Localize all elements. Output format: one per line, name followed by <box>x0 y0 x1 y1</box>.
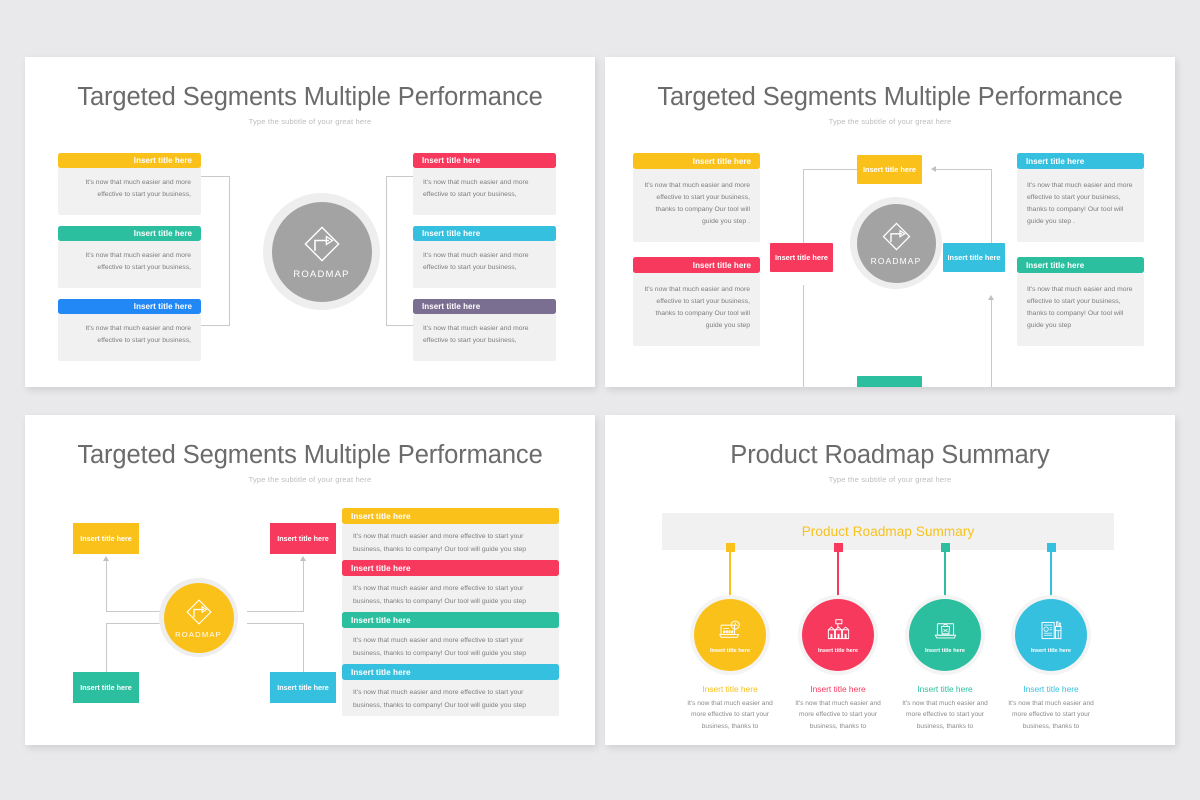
step-bubble[interactable]: Insert title here <box>802 599 874 671</box>
card-body: It's now that much easier and more effec… <box>413 314 556 361</box>
flow-node-right[interactable]: Insert title here <box>943 243 1005 272</box>
node-label: Insert title here <box>948 253 1001 262</box>
list-card-1[interactable]: Insert title here It's now that much eas… <box>342 508 559 560</box>
connector-line <box>106 611 161 612</box>
flow-node-left[interactable]: Insert title here <box>770 243 833 272</box>
flow-node-top-right[interactable]: Insert title here <box>270 523 336 554</box>
card-title: Insert title here <box>342 612 559 628</box>
slide-3[interactable]: Targeted Segments Multiple Performance T… <box>25 415 595 745</box>
step-bubble[interactable]: Insert title here <box>1015 599 1087 671</box>
slide-4[interactable]: Product Roadmap Summary Type the subtitl… <box>605 415 1175 745</box>
page-title: Targeted Segments Multiple Performance <box>25 83 595 112</box>
card-left-1[interactable]: Insert title here It's now that much eas… <box>58 153 201 215</box>
connector-line <box>247 623 304 624</box>
card-title: Insert title here <box>633 153 760 169</box>
card-left-2[interactable]: Insert title here It's now that much eas… <box>58 226 201 288</box>
page-subtitle: Type the subtitle of your great here <box>605 475 1175 484</box>
step-desc: It's now that much easier and more effec… <box>994 698 1108 732</box>
card-right-2[interactable]: Insert title here It's now that much eas… <box>413 226 556 288</box>
card-body: It's now that much easier and more effec… <box>58 314 201 361</box>
flow-node-top[interactable]: Insert title here <box>857 155 922 184</box>
card-title: Insert title here <box>342 508 559 524</box>
step-bubble[interactable]: Insert title here <box>909 599 981 671</box>
card-title: Insert title here <box>342 560 559 576</box>
step-stem <box>944 552 946 599</box>
bubble-label: Insert title here <box>925 648 965 654</box>
timeline-step-4[interactable]: Insert title here Insert title here It's… <box>994 543 1108 732</box>
connector-line <box>386 176 387 251</box>
store-shops-icon <box>825 617 852 644</box>
card-title: Insert title here <box>58 226 201 241</box>
list-card-3[interactable]: Insert title here It's now that much eas… <box>342 612 559 664</box>
card-right-2[interactable]: Insert title here It's now that much eas… <box>1017 257 1144 346</box>
laptop-shopping-bag-icon <box>932 617 959 644</box>
card-title: Insert title here <box>413 153 556 168</box>
step-dot <box>941 543 950 552</box>
step-stem <box>837 552 839 599</box>
connector-line <box>247 611 304 612</box>
page-subtitle: Type the subtitle of your great here <box>25 117 595 126</box>
document-report-icon <box>1038 617 1065 644</box>
page-subtitle: Type the subtitle of your great here <box>605 117 1175 126</box>
connector-line <box>303 560 304 612</box>
step-stem <box>729 552 731 599</box>
card-title: Insert title here <box>58 153 201 168</box>
step-desc: It's now that much easier and more effec… <box>781 698 895 732</box>
roadmap-inner: ROADMAP <box>164 583 234 653</box>
step-title: Insert title here <box>781 684 895 694</box>
node-label: Insert title here <box>775 253 828 262</box>
flow-node-bottom-left[interactable]: Insert title here <box>73 672 139 703</box>
step-title: Insert title here <box>994 684 1108 694</box>
card-body: It's now that much easier and more effec… <box>633 273 760 346</box>
page-title: Targeted Segments Multiple Performance <box>25 441 595 470</box>
arrow-head-up <box>988 295 994 300</box>
slide-deck: Targeted Segments Multiple Performance T… <box>0 0 1200 800</box>
card-body: It's now that much easier and more effec… <box>633 169 760 242</box>
slide-1[interactable]: Targeted Segments Multiple Performance T… <box>25 57 595 387</box>
card-body: It's now that much easier and more effec… <box>342 680 559 716</box>
connector-line <box>229 251 230 326</box>
laptop-analytics-icon <box>717 617 744 644</box>
card-body: It's now that much easier and more effec… <box>1017 169 1144 242</box>
connector-line <box>106 560 107 612</box>
card-title: Insert title here <box>413 299 556 314</box>
flow-node-bottom-right[interactable]: Insert title here <box>270 672 336 703</box>
card-title: Insert title here <box>1017 257 1144 273</box>
connector-line <box>229 176 230 251</box>
card-body: It's now that much easier and more effec… <box>342 524 559 560</box>
node-label: Insert title here <box>863 165 916 174</box>
roadmap-label: ROADMAP <box>871 256 922 266</box>
connector-line <box>991 299 992 387</box>
card-title: Insert title here <box>58 299 201 314</box>
banner-title: Product Roadmap Summary <box>802 524 975 539</box>
node-label: Insert title here <box>863 386 916 387</box>
arrow-head-up <box>103 556 109 561</box>
page-title: Targeted Segments Multiple Performance <box>605 83 1175 112</box>
card-title: Insert title here <box>342 664 559 680</box>
card-title: Insert title here <box>413 226 556 241</box>
roadmap-label: ROADMAP <box>293 269 349 280</box>
step-dot <box>834 543 843 552</box>
step-bubble[interactable]: Insert title here <box>694 599 766 671</box>
step-desc: It's now that much easier and more effec… <box>888 698 1002 732</box>
roadmap-diamond-arrow-icon <box>301 223 343 265</box>
node-label: Insert title here <box>80 683 132 692</box>
card-body: It's now that much easier and more effec… <box>342 576 559 612</box>
roadmap-center-circle[interactable]: ROADMAP <box>263 193 380 310</box>
connector-line <box>803 285 804 387</box>
card-right-3[interactable]: Insert title here It's now that much eas… <box>413 299 556 361</box>
roadmap-diamond-arrow-icon <box>880 220 913 253</box>
roadmap-label: ROADMAP <box>175 630 222 639</box>
card-right-1[interactable]: Insert title here It's now that much eas… <box>1017 153 1144 242</box>
timeline-step-1[interactable]: Insert title here Insert title here It's… <box>673 543 787 732</box>
page-subtitle: Type the subtitle of your great here <box>25 475 595 484</box>
step-title: Insert title here <box>888 684 1002 694</box>
list-card-4[interactable]: Insert title here It's now that much eas… <box>342 664 559 716</box>
step-dot <box>1047 543 1056 552</box>
node-label: Insert title here <box>277 683 329 692</box>
step-dot <box>726 543 735 552</box>
roadmap-inner: ROADMAP <box>272 202 372 302</box>
connector-line <box>106 623 161 624</box>
bubble-label: Insert title here <box>1031 648 1071 654</box>
arrow-head-up <box>300 556 306 561</box>
card-left-1[interactable]: Insert title here It's now that much eas… <box>633 153 760 242</box>
connector-line <box>803 169 858 170</box>
card-right-1[interactable]: Insert title here It's now that much eas… <box>413 153 556 215</box>
bubble-label: Insert title here <box>818 648 858 654</box>
card-body: It's now that much easier and more effec… <box>58 168 201 215</box>
connector-line <box>386 251 387 326</box>
step-desc: It's now that much easier and more effec… <box>673 698 787 732</box>
card-body: It's now that much easier and more effec… <box>342 628 559 664</box>
card-body: It's now that much easier and more effec… <box>413 168 556 215</box>
slide-2[interactable]: Targeted Segments Multiple Performance T… <box>605 57 1175 387</box>
roadmap-diamond-arrow-icon <box>184 597 214 627</box>
flow-node-top-left[interactable]: Insert title here <box>73 523 139 554</box>
connector-line <box>935 169 992 170</box>
page-title: Product Roadmap Summary <box>605 441 1175 470</box>
node-label: Insert title here <box>80 534 132 543</box>
card-left-2[interactable]: Insert title here It's now that much eas… <box>633 257 760 346</box>
timeline-step-3[interactable]: Insert title here Insert title here It's… <box>888 543 1002 732</box>
node-label: Insert title here <box>277 534 329 543</box>
roadmap-center-circle[interactable]: ROADMAP <box>159 578 238 657</box>
step-title: Insert title here <box>673 684 787 694</box>
bubble-label: Insert title here <box>710 648 750 654</box>
card-body: It's now that much easier and more effec… <box>58 241 201 288</box>
roadmap-center-circle[interactable]: ROADMAP <box>850 197 942 289</box>
flow-node-bottom[interactable]: Insert title here <box>857 376 922 387</box>
arrow-head-left <box>931 166 936 172</box>
step-stem <box>1050 552 1052 599</box>
card-body: It's now that much easier and more effec… <box>413 241 556 288</box>
connector-line <box>803 169 804 246</box>
card-body: It's now that much easier and more effec… <box>1017 273 1144 346</box>
card-title: Insert title here <box>1017 153 1144 169</box>
timeline-step-2[interactable]: Insert title here Insert title here It's… <box>781 543 895 732</box>
card-left-3[interactable]: Insert title here It's now that much eas… <box>58 299 201 361</box>
roadmap-inner: ROADMAP <box>857 204 936 283</box>
list-card-2[interactable]: Insert title here It's now that much eas… <box>342 560 559 612</box>
card-title: Insert title here <box>633 257 760 273</box>
